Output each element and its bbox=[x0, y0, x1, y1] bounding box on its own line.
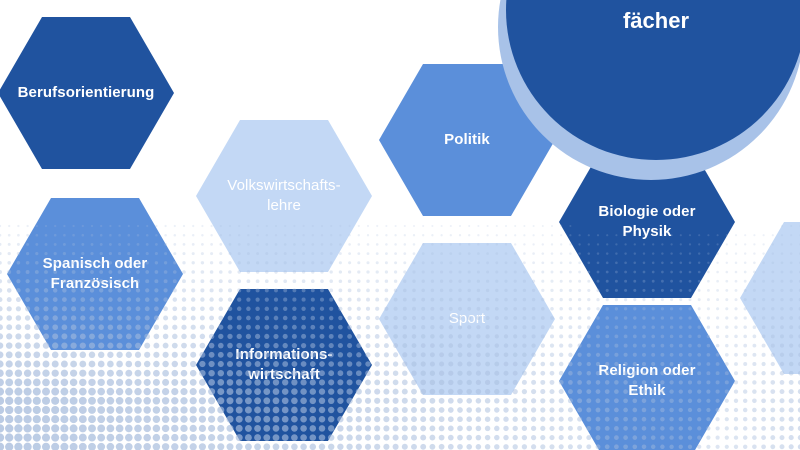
subject-label: Spanisch oder Französisch bbox=[37, 254, 154, 295]
subject-hexagon-volkswirtschaftslehre[interactable]: Volkswirtschafts- lehre bbox=[196, 120, 372, 272]
subject-hexagon-spanisch-franzoesisch[interactable]: Spanisch oder Französisch bbox=[7, 198, 183, 350]
slide-canvas: BerufsorientierungSpanisch oder Französi… bbox=[0, 0, 800, 450]
subject-label: Berufsorientierung bbox=[12, 83, 161, 103]
subject-hexagon-sport[interactable]: Sport bbox=[379, 243, 555, 395]
subject-hexagon-informationswirtschaft[interactable]: Informations- wirtschaft bbox=[196, 289, 372, 441]
subject-hexagon-berufsorientierung[interactable]: Berufsorientierung bbox=[0, 17, 174, 169]
subject-hexagon-edge-hex-right[interactable] bbox=[740, 222, 800, 374]
subject-label: Politik bbox=[438, 130, 496, 150]
subject-label: Biologie oder Physik bbox=[592, 202, 701, 243]
subject-label: Volkswirtschafts- lehre bbox=[221, 176, 346, 217]
subject-label: Religion oder Ethik bbox=[592, 361, 701, 402]
page-title: Ihre Unterrichts- fächer bbox=[531, 0, 781, 36]
subject-label: Informations- wirtschaft bbox=[229, 345, 338, 386]
subject-label: Sport bbox=[443, 309, 491, 329]
subject-hexagon-religion-ethik[interactable]: Religion oder Ethik bbox=[559, 305, 735, 450]
